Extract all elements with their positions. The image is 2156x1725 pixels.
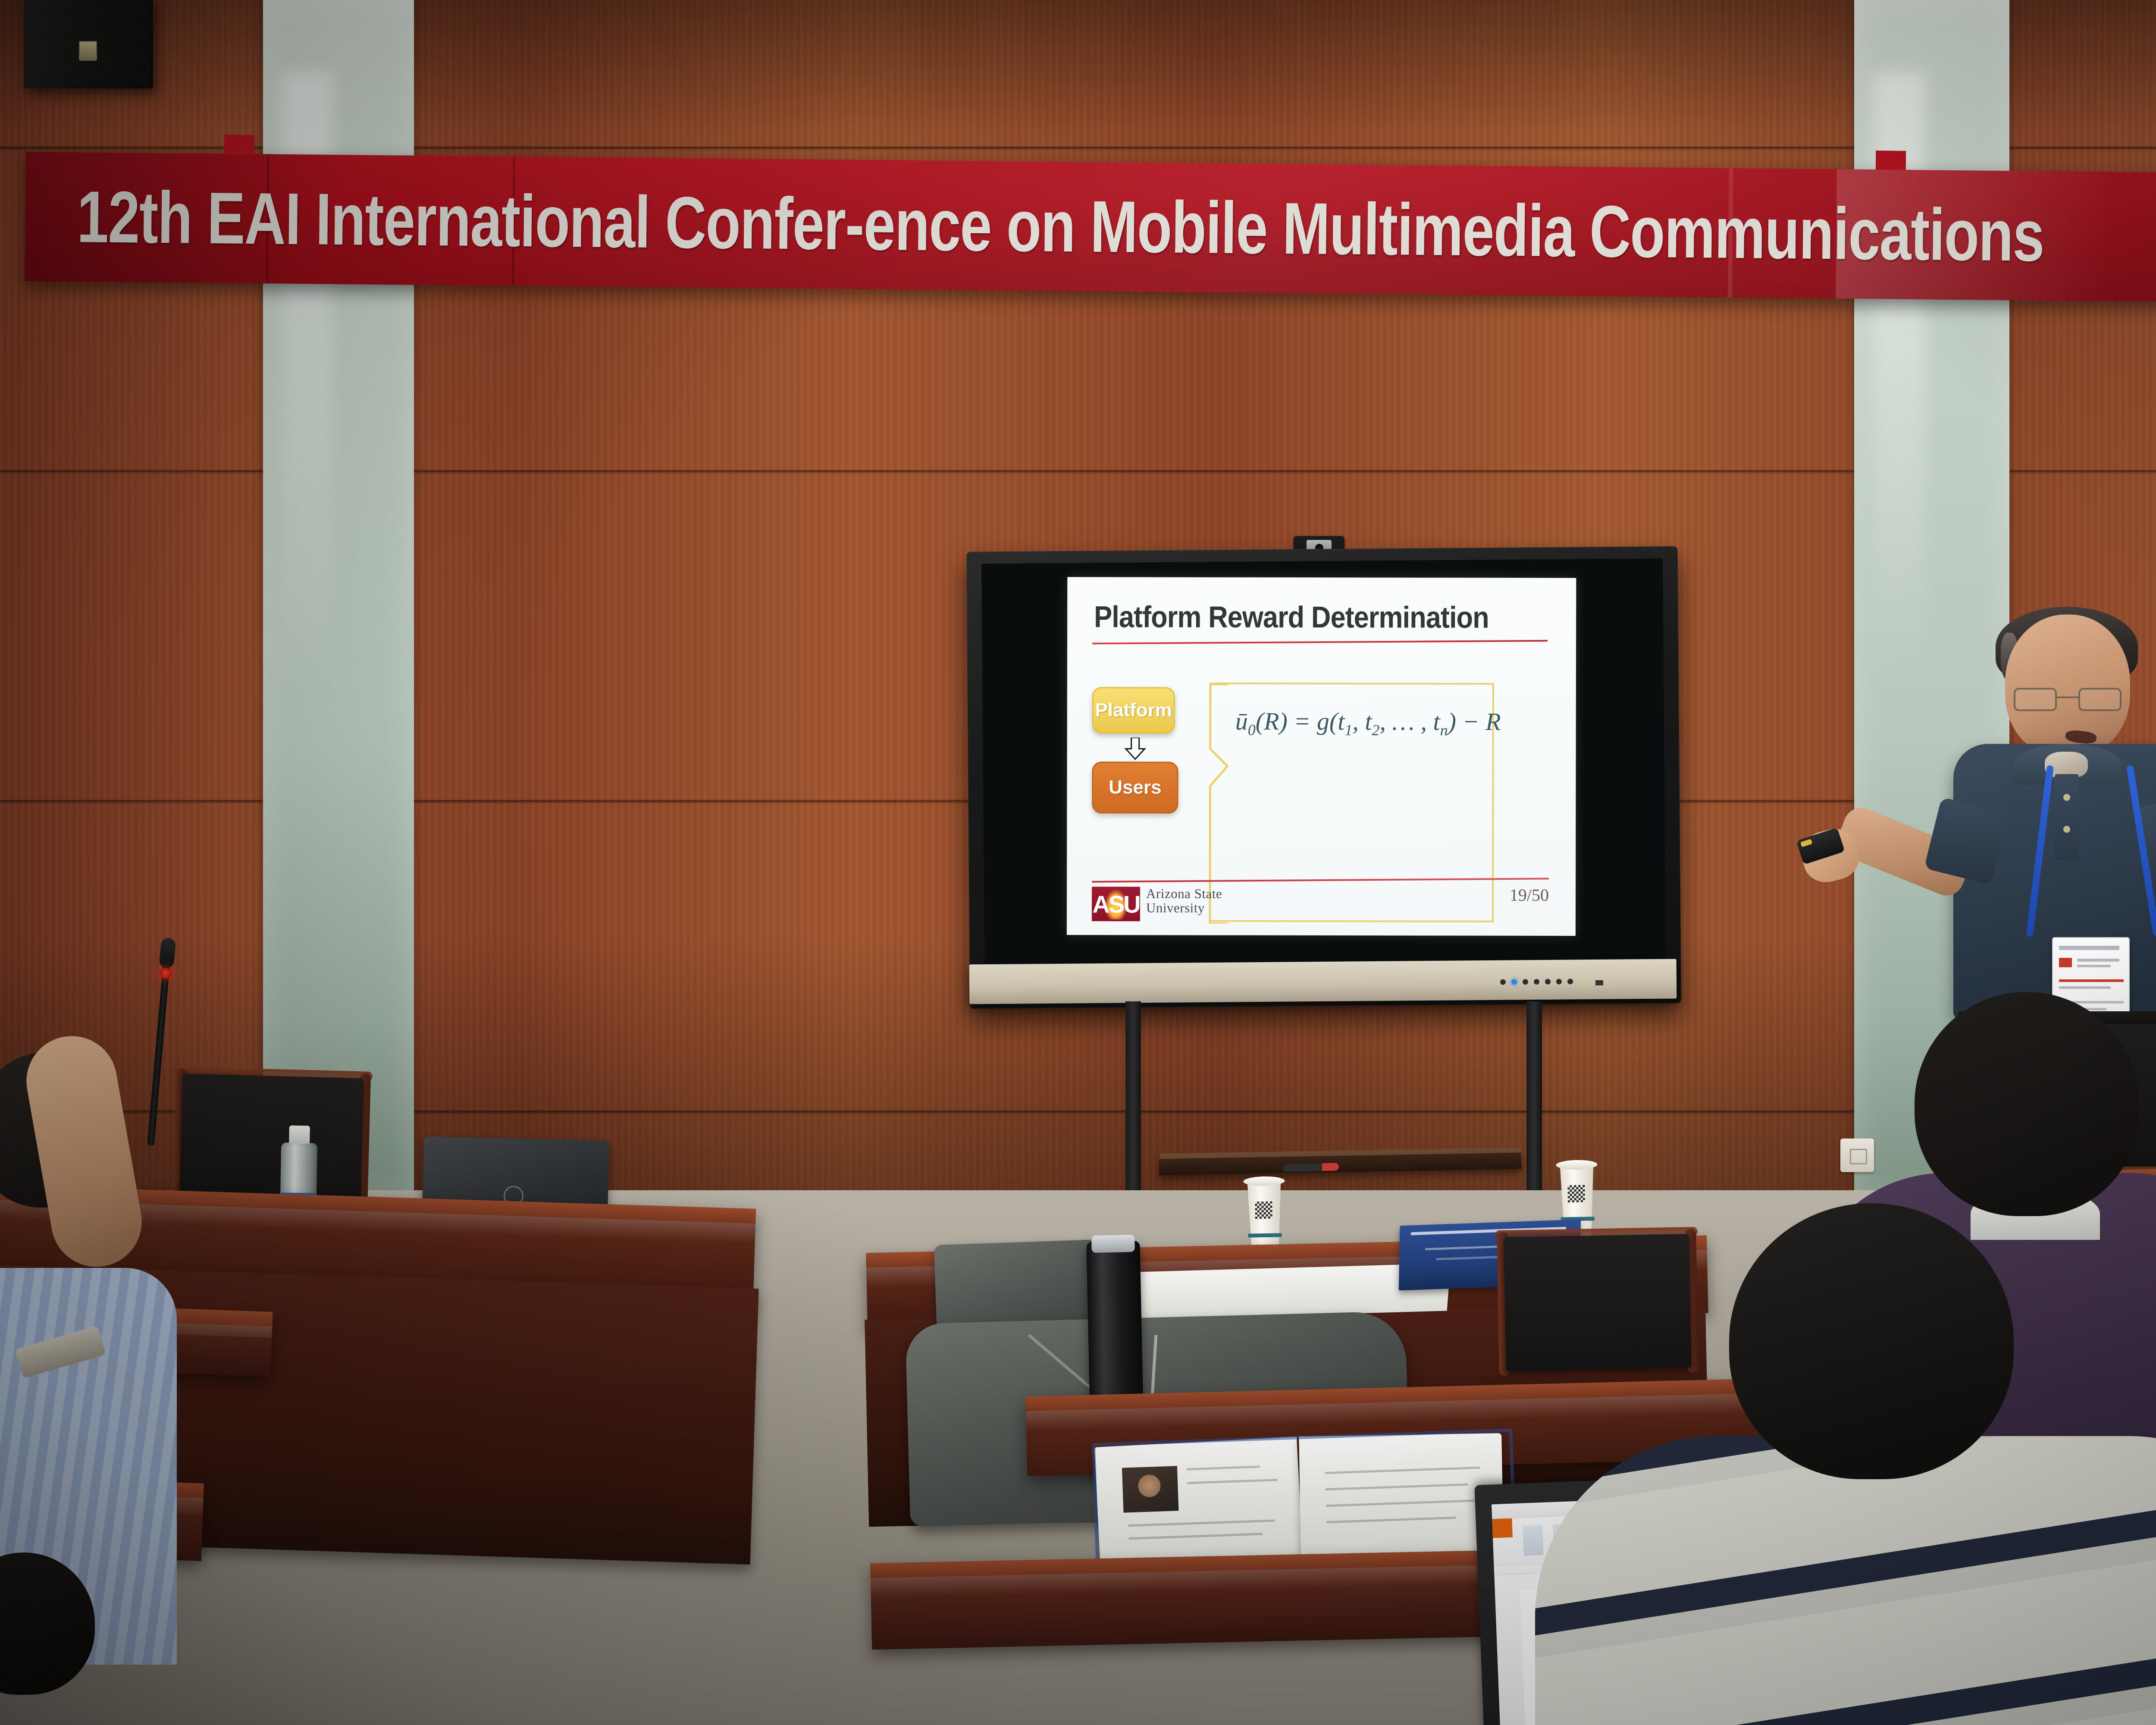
file-menu-button[interactable]: [1492, 1518, 1513, 1538]
qr-code-icon: [1255, 1201, 1272, 1219]
ir-receiver: [1595, 980, 1603, 985]
thermos-cap: [1091, 1235, 1135, 1253]
slide-formula: ū0(R) = g(t1, t2, … , tn) − R: [1235, 707, 1477, 740]
down-arrow-icon: [1123, 737, 1147, 760]
attendee-head: [1915, 992, 2139, 1216]
formula-arg1-sub: 1: [1344, 721, 1352, 739]
glasses-icon: [2014, 688, 2122, 713]
booklet-speaker-photo: [1122, 1466, 1179, 1512]
conference-banner: 12th EAI International Confer-ence on Mo…: [25, 152, 2156, 304]
bottle-cap: [289, 1126, 310, 1144]
attendee-head: [0, 1552, 95, 1695]
formula-close-paren: ): [1448, 708, 1456, 736]
banner-title: 12th EAI International Confer-ence on Mo…: [77, 175, 1827, 276]
diagram-node-users: Users: [1092, 762, 1178, 813]
attendee-front-left: [0, 1009, 241, 1639]
formula-arg-ellipsis: , … , t: [1379, 707, 1440, 735]
conference-room-photo: 12th EAI International Confer-ence on Mo…: [0, 0, 2156, 1725]
diagram-node-platform: Platform: [1092, 687, 1175, 734]
asu-mark-text: ASU: [1092, 890, 1139, 918]
slide-divider-top: [1092, 640, 1548, 644]
status-led-row: [1500, 979, 1573, 985]
status-led-active: [1511, 979, 1517, 985]
attendee-foreground-striped: [1587, 1203, 2156, 1725]
formula-lhs: ū: [1235, 707, 1248, 735]
wall-speaker-left: [24, 0, 153, 88]
asu-mark: ASU: [1092, 887, 1140, 921]
formula-argn-sub: n: [1440, 721, 1448, 739]
formula-minus-r: − R: [1462, 708, 1501, 736]
whiteboard-marker[interactable]: [1283, 1163, 1339, 1172]
speaker-brand-badge: [79, 41, 97, 61]
qr-code-icon: [1567, 1185, 1585, 1203]
formula-equals: =: [1294, 707, 1310, 735]
display-chin-bezel: [969, 959, 1677, 1004]
attendee-arm: [19, 1029, 149, 1274]
display-screen[interactable]: Platform Reward Determination ū0(R) = g(…: [981, 558, 1666, 970]
formula-lhs-arg: (R): [1256, 707, 1288, 735]
lanyard: [2037, 765, 2141, 947]
formula-rhs-fn: g: [1317, 707, 1329, 735]
formula-arg2-sub: 2: [1372, 721, 1379, 739]
attendee-edge-left: [0, 1552, 177, 1725]
slide-title: Platform Reward Determination: [1094, 599, 1489, 635]
attendee-shoulders: [1535, 1436, 2156, 1725]
formula-args-open: (t: [1329, 707, 1345, 735]
asu-wordmark: Arizona State University: [1146, 887, 1222, 915]
slide-page-number: 19/50: [1510, 885, 1549, 905]
interactive-whiteboard[interactable]: ‹ ↵ ⌂ ‹ Platform Reward Determination ū0…: [966, 546, 1681, 1009]
asu-line-1: Arizona State: [1146, 886, 1222, 901]
presentation-slide: Platform Reward Determination ū0(R) = g(…: [1067, 577, 1576, 936]
asu-logo: ASU Arizona State University: [1092, 887, 1222, 922]
asu-line-2: University: [1146, 901, 1222, 915]
formula-lhs-sub: 0: [1248, 721, 1256, 738]
formula-arg2: , t: [1352, 707, 1372, 735]
attendee-head: [1729, 1203, 2014, 1479]
